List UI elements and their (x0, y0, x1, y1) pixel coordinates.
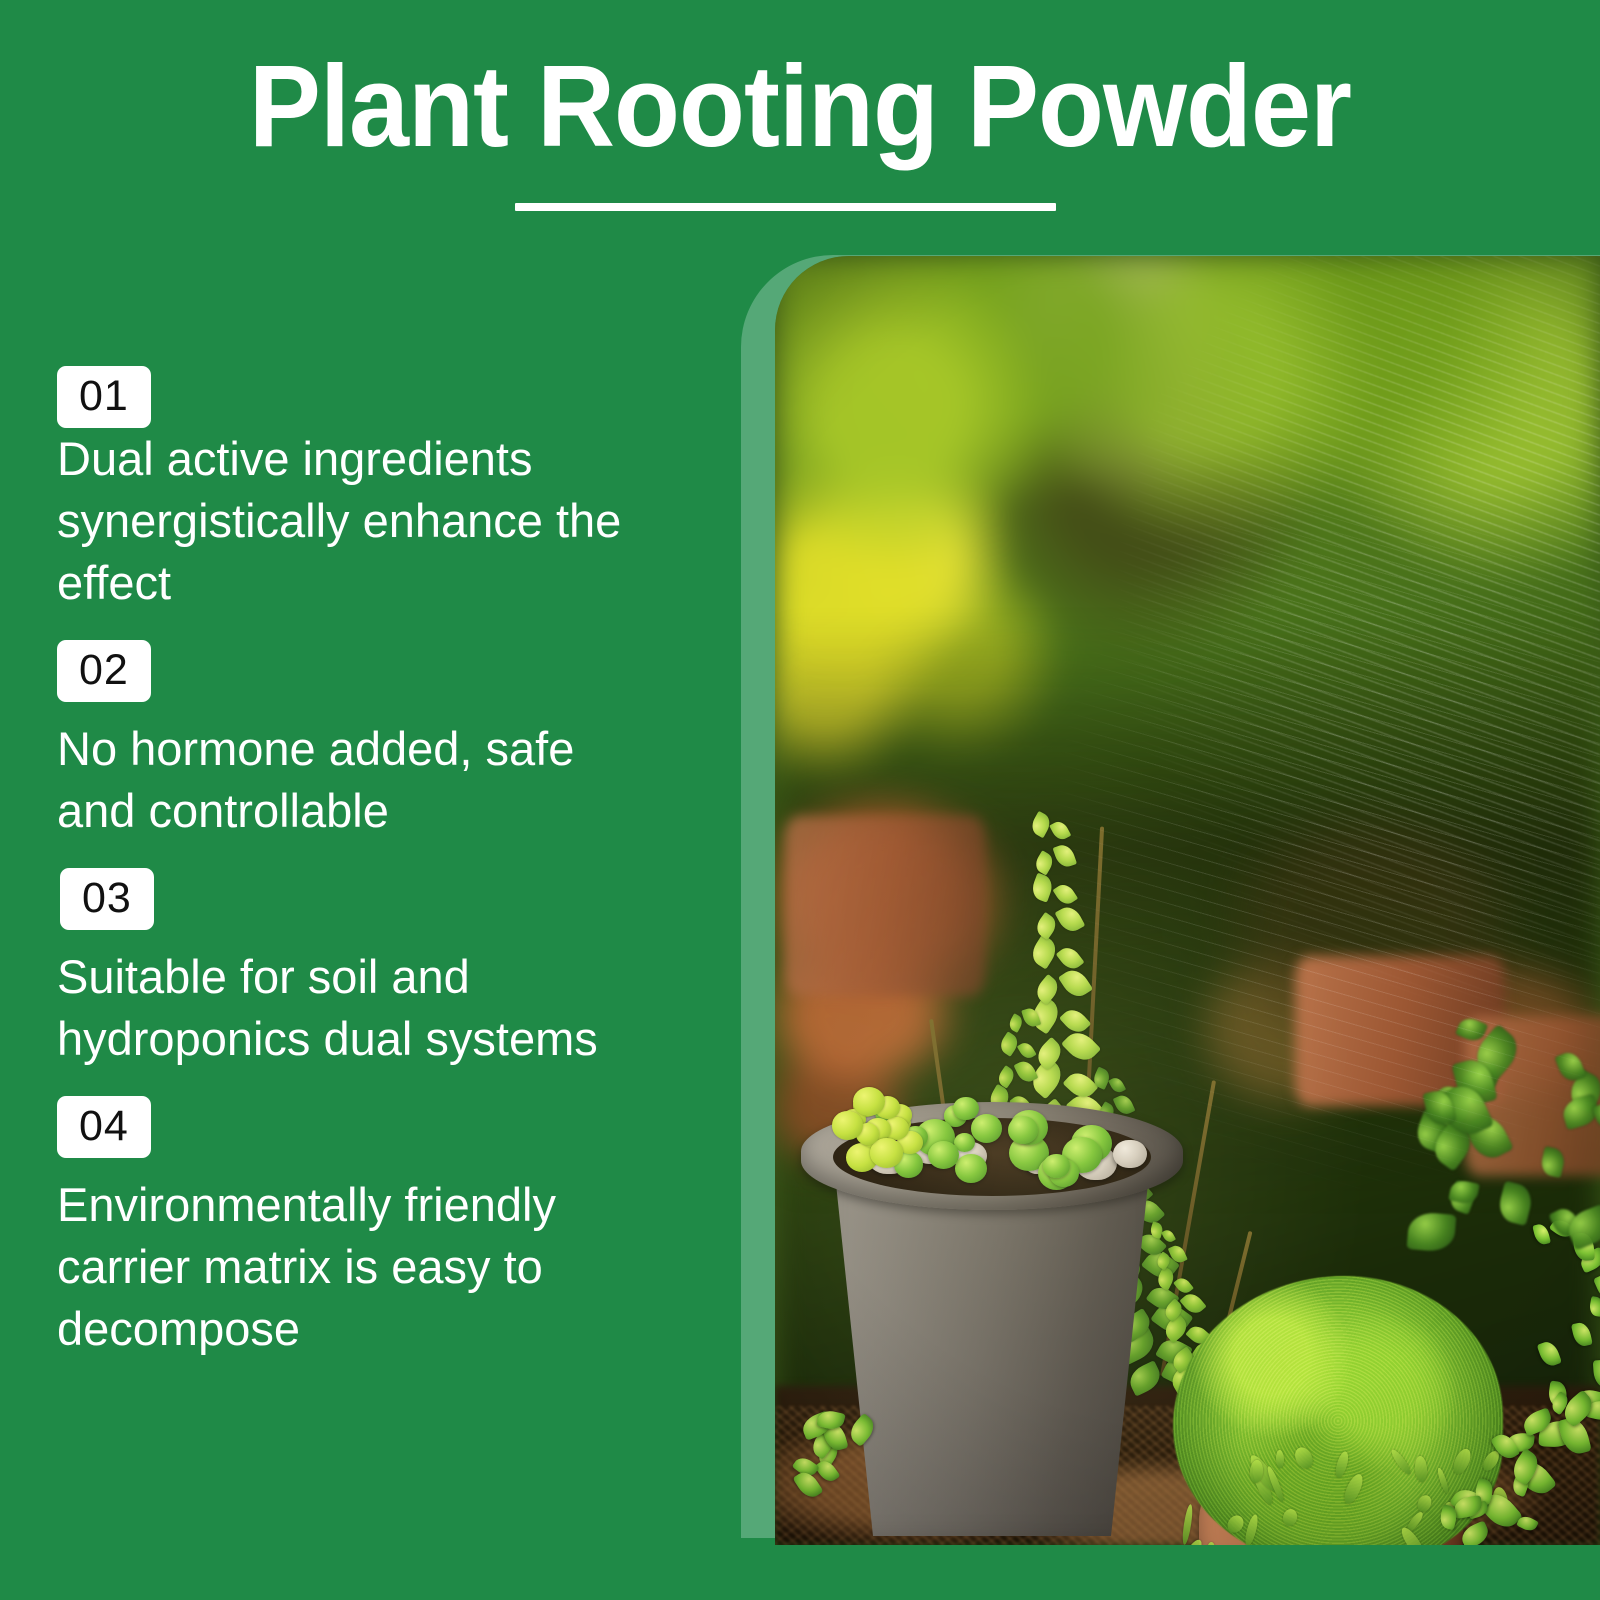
badge-wrap-04: 04 (57, 1096, 700, 1158)
feature-number-badge-03: 03 (60, 868, 154, 930)
photo-inner (775, 256, 1600, 1545)
feature-number-badge-01: 01 (57, 366, 151, 428)
page-title: Plant Rooting Powder (56, 46, 1544, 166)
feature-item-04: 04 Environmentally friendly carrier matr… (0, 1096, 700, 1360)
title-underline-rule (515, 203, 1056, 211)
photo-block (741, 255, 1600, 1545)
feature-item-01: 01 Dual active ingredients synergistical… (0, 366, 700, 614)
feature-item-03: 03 Suitable for soil and hydroponics dua… (0, 868, 700, 1070)
feature-list: 01 Dual active ingredients synergistical… (0, 366, 700, 1360)
product-photo (775, 256, 1600, 1545)
feature-text-03: Suitable for soil and hydroponics dual s… (57, 946, 647, 1070)
feature-text-02: No hormone added, safe and controllable (57, 718, 647, 842)
feature-text-01: Dual active ingredients synergistically … (57, 428, 647, 614)
photo-layer-water-spray-soft (775, 256, 1600, 1545)
badge-wrap-03: 03 (60, 868, 700, 930)
feature-text-04: Environmentally friendly carrier matrix … (57, 1174, 647, 1360)
feature-number-badge-02: 02 (57, 640, 151, 702)
badge-wrap-01: 01 (57, 366, 700, 428)
badge-wrap-02: 02 (57, 640, 700, 702)
feature-number-badge-04: 04 (57, 1096, 151, 1158)
feature-item-02: 02 No hormone added, safe and controllab… (0, 640, 700, 842)
header: Plant Rooting Powder (0, 0, 1600, 240)
